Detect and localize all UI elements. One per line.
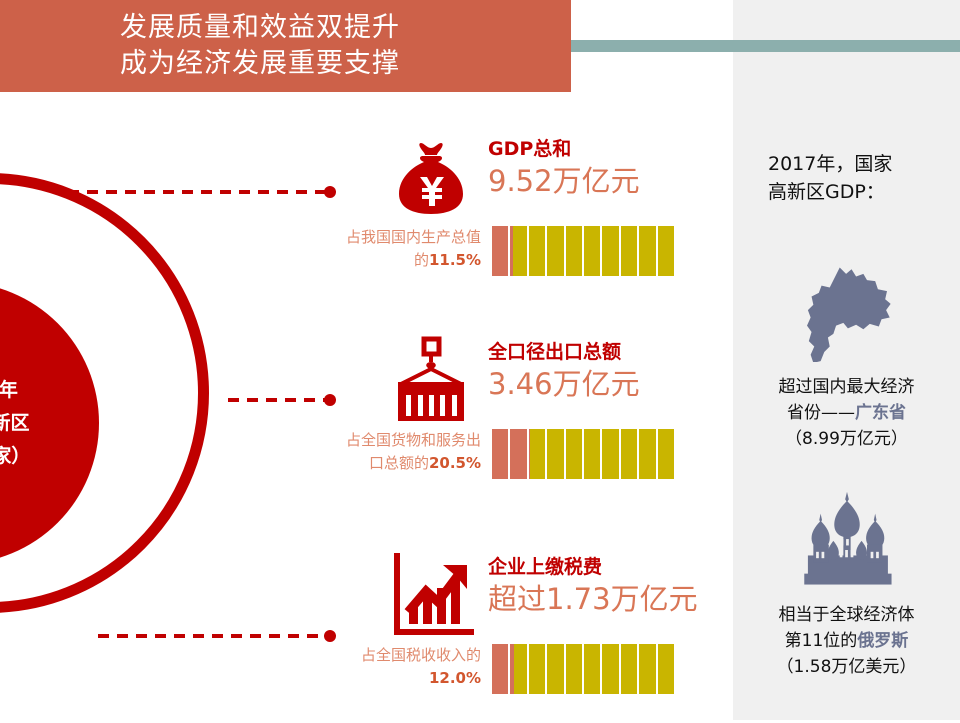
- gauge-slot: [529, 429, 545, 479]
- hub-count-label: （156家）: [0, 440, 30, 473]
- money-bag-icon: [385, 132, 477, 224]
- caption-highlight: 俄罗斯: [857, 631, 908, 651]
- gauge-slot: [621, 644, 637, 694]
- gauge-slot-fill: [492, 226, 508, 276]
- growth-chart-icon: [385, 550, 477, 642]
- connector-line-export: [228, 398, 336, 402]
- metric-block-gdp: GDP总和 9.52万亿元 占我国国内生产总值的11.5%: [355, 130, 695, 305]
- gauge-slot: [584, 429, 600, 479]
- gauge-slot: [529, 644, 545, 694]
- connector-dash: [228, 398, 326, 402]
- gauge-slot: [492, 644, 508, 694]
- connector-dash: [98, 634, 326, 638]
- metric-title: 全口径出口总额: [488, 339, 640, 365]
- gauge-slot: [566, 226, 582, 276]
- gauge-slot: [658, 644, 674, 694]
- gauge-slot: [566, 429, 582, 479]
- connector-endpoint-dot: [324, 186, 336, 198]
- gauge-slot: [547, 429, 563, 479]
- metric-share-note: 占全国税收收入的12.0%: [337, 644, 481, 690]
- gauge-slot: [510, 644, 526, 694]
- connector-endpoint-dot: [324, 630, 336, 642]
- metric-title: 企业上缴税费: [488, 554, 698, 580]
- gauge-slot: [584, 644, 600, 694]
- gauge-slot: [529, 226, 545, 276]
- gauge-slot-fill: [492, 644, 508, 694]
- comparison-province: 超过国内最大经济 省份——广东省 （8.99万亿元）: [733, 258, 960, 452]
- caption-prefix: 省份——: [787, 403, 855, 423]
- metric-bar-gauge: [492, 429, 674, 479]
- guangdong-map-icon: [733, 258, 960, 366]
- metric-bar-gauge: [492, 644, 674, 694]
- gauge-slot: [658, 226, 674, 276]
- comparison-caption-country: 相当于全球经济体 第11位的俄罗斯 （1.58万亿美元）: [733, 602, 960, 680]
- hub-year-label: 2017年: [0, 374, 18, 407]
- gauge-slot: [547, 644, 563, 694]
- hub-name-label: 国家高新区: [0, 407, 30, 440]
- comparison-country: 相当于全球经济体 第11位的俄罗斯 （1.58万亿美元）: [733, 486, 960, 680]
- metric-share-percent: 20.5%: [429, 454, 481, 472]
- metric-value: 9.52万亿元: [488, 162, 640, 200]
- caption-prefix: 第11位的: [785, 631, 858, 651]
- metric-head-gdp: GDP总和 9.52万亿元: [488, 136, 640, 200]
- gauge-slot-fill: [510, 429, 526, 479]
- metric-block-tax: 企业上缴税费 超过1.73万亿元 占全国税收收入的12.0%: [355, 548, 695, 723]
- gauge-slot: [510, 226, 526, 276]
- gauge-slot: [510, 429, 526, 479]
- gauge-slot-fill: [510, 226, 512, 276]
- page-title: 发展质量和效益双提升 成为经济发展重要支撑: [0, 10, 400, 82]
- metric-head-tax: 企业上缴税费 超过1.73万亿元: [488, 554, 698, 618]
- gauge-slot: [547, 226, 563, 276]
- gauge-slot: [584, 226, 600, 276]
- gauge-slot: [492, 429, 508, 479]
- gauge-slot: [602, 644, 618, 694]
- caption-line-3: （1.58万亿美元）: [745, 654, 948, 680]
- metric-share-note: 占我国国内生产总值的11.5%: [337, 226, 481, 272]
- title-banner: 发展质量和效益双提升 成为经济发展重要支撑: [0, 0, 571, 92]
- gauge-slot: [492, 226, 508, 276]
- gauge-slot: [602, 429, 618, 479]
- caption-line-2: 第11位的俄罗斯: [745, 628, 948, 654]
- comparison-caption-province: 超过国内最大经济 省份——广东省 （8.99万亿元）: [733, 374, 960, 452]
- connector-line-gdp: [68, 190, 336, 194]
- connector-line-tax: [98, 634, 336, 638]
- gauge-slot: [639, 644, 655, 694]
- metric-share-percent: 12.0%: [429, 669, 481, 687]
- teal-divider-rule: [571, 40, 960, 52]
- caption-line-3: （8.99万亿元）: [745, 426, 948, 452]
- gauge-slot: [639, 429, 655, 479]
- gauge-slot: [621, 226, 637, 276]
- panel-heading: 2017年，国家 高新区GDP：: [768, 150, 958, 206]
- gauge-slot-fill: [492, 429, 508, 479]
- caption-line-1: 相当于全球经济体: [745, 602, 948, 628]
- gauge-slot: [658, 429, 674, 479]
- gauge-slot: [566, 644, 582, 694]
- connector-endpoint-dot: [324, 394, 336, 406]
- metric-value: 3.46万亿元: [488, 365, 640, 403]
- metric-share-percent: 11.5%: [429, 251, 481, 269]
- metric-value: 超过1.73万亿元: [488, 580, 698, 618]
- caption-highlight: 广东省: [855, 403, 906, 423]
- caption-line-2: 省份——广东省: [745, 400, 948, 426]
- metric-bar-gauge: [492, 226, 674, 276]
- infographic-canvas: 发展质量和效益双提升 成为经济发展重要支撑 2017年 国家高新区 （156家）…: [0, 0, 960, 720]
- metric-share-prefix: 占全国税收收入的: [361, 646, 481, 664]
- gauge-slot: [602, 226, 618, 276]
- gauge-slot: [621, 429, 637, 479]
- metric-title: GDP总和: [488, 136, 640, 162]
- connector-dash: [68, 190, 326, 194]
- metric-block-export: 全口径出口总额 3.46万亿元 占全国货物和服务出口总额的20.5%: [355, 333, 695, 508]
- gauge-slot-fill: [510, 644, 513, 694]
- caption-line-1: 超过国内最大经济: [745, 374, 948, 400]
- shipping-container-icon: [385, 335, 477, 427]
- gauge-slot-fill: [529, 429, 530, 479]
- saint-basils-cathedral-icon: [733, 486, 960, 594]
- metric-share-note: 占全国货物和服务出口总额的20.5%: [337, 429, 481, 475]
- metric-head-export: 全口径出口总额 3.46万亿元: [488, 339, 640, 403]
- gauge-slot: [639, 226, 655, 276]
